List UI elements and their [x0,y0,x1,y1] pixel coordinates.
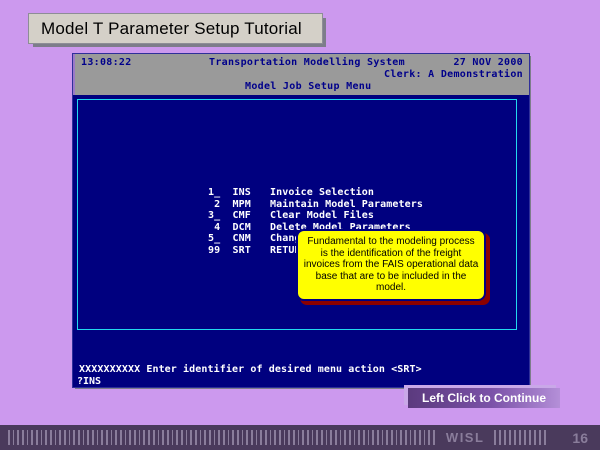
footer-tick [186,430,188,445]
command-input-value[interactable]: ?INS [77,376,101,387]
terminal-window: 13:08:22 Transportation Modelling System… [72,53,530,388]
footer-tick [172,430,174,445]
slide-footer: WISL 16 [0,425,600,450]
footer-tick [195,430,197,445]
callout-box: Fundamental to the modeling process is t… [296,229,486,301]
footer-tick [36,430,38,445]
footer-tick [326,430,328,445]
footer-tick [509,430,511,445]
footer-tick [55,430,57,445]
footer-tick [92,430,94,445]
footer-tick [270,430,272,445]
menu-option-code: 2 MPM [208,199,270,211]
menu-option-code: 99 SRT [208,245,270,257]
footer-tick [433,430,435,445]
footer-tick [17,430,19,445]
footer-tick [372,430,374,445]
footer-tick [524,430,526,445]
footer-tick [298,430,300,445]
footer-tick [499,430,501,445]
footer-tick [73,430,75,445]
footer-tick [307,430,309,445]
footer-tick [134,430,136,445]
footer-tick [13,430,15,445]
menu-option-row[interactable]: 2 MPMMaintain Model Parameters [208,199,448,211]
footer-tick [237,430,239,445]
footer-tick [125,430,127,445]
footer-tick [242,430,244,445]
footer-tick [340,430,342,445]
footer-tick [115,430,117,445]
page-title: Model T Parameter Setup Tutorial [29,19,302,39]
menu-option-row[interactable]: 1_ INSInvoice Selection [208,187,448,199]
footer-tick [101,430,103,445]
footer-tick [148,430,150,445]
footer-tick [209,430,211,445]
footer-tick [251,430,253,445]
header-time: 13:08:22 [81,57,132,68]
menu-option-label: Maintain Model Parameters [270,199,423,210]
footer-tick [358,430,360,445]
header-date: 27 NOV 2000 [453,57,523,68]
footer-page-number: 16 [572,430,588,446]
footer-tick [256,430,258,445]
footer-tick [410,430,412,445]
footer-tick [139,430,141,445]
footer-tick [400,430,402,445]
menu-option-code: 3_ CMF [208,210,270,222]
footer-tick [391,430,393,445]
footer-tick [382,430,384,445]
footer-tick [223,430,225,445]
footer-tick [335,430,337,445]
footer-tick [377,430,379,445]
footer-tick [330,430,332,445]
terminal-header-bar: 13:08:22 Transportation Modelling System… [73,54,529,95]
footer-tick [363,430,365,445]
footer-tick [514,430,516,445]
footer-tick [204,430,206,445]
footer-tick-marks-right [494,430,564,445]
footer-tick [111,430,113,445]
footer-tick [78,430,80,445]
header-clerk: Clerk: A Demonstration [384,69,523,80]
menu-option-code: 4 DCM [208,222,270,234]
footer-tick [405,430,407,445]
footer-tick [153,430,155,445]
footer-tick [544,430,546,445]
footer-tick [41,430,43,445]
footer-tick [200,430,202,445]
footer-tick [539,430,541,445]
callout-text: Fundamental to the modeling process is t… [298,236,484,294]
footer-tick [414,430,416,445]
footer-tick [316,430,318,445]
footer-tick [31,430,33,445]
footer-tick [83,430,85,445]
footer-tick-marks-left [8,430,438,445]
header-system-title: Transportation Modelling System [209,57,405,68]
footer-tick [228,430,230,445]
command-prompt-text: XXXXXXXXXX Enter identifier of desired m… [79,364,422,375]
footer-tick [386,430,388,445]
footer-tick [288,430,290,445]
footer-tick [265,430,267,445]
footer-tick [45,430,47,445]
footer-tick [167,430,169,445]
menu-option-label: Clear Model Files [270,210,374,221]
footer-tick [190,430,192,445]
footer-tick [214,430,216,445]
menu-option-label: Invoice Selection [270,187,374,198]
footer-tick [424,430,426,445]
continue-button-label: Left Click to Continue [422,391,546,405]
footer-tick [534,430,536,445]
footer-tick [162,430,164,445]
slide-title-plaque: Model T Parameter Setup Tutorial [28,13,323,44]
footer-tick [158,430,160,445]
footer-tick [321,430,323,445]
footer-tick [428,430,430,445]
footer-tick [97,430,99,445]
footer-tick [176,430,178,445]
footer-tick [120,430,122,445]
menu-option-row[interactable]: 3_ CMFClear Model Files [208,210,448,222]
footer-tick [396,430,398,445]
footer-tick [181,430,183,445]
footer-tick [143,430,145,445]
footer-tick [293,430,295,445]
header-menu-title: Model Job Setup Menu [245,81,371,92]
footer-tick [50,430,52,445]
footer-tick [279,430,281,445]
footer-brand: WISL [446,430,485,445]
footer-tick [232,430,234,445]
footer-tick [419,430,421,445]
footer-tick [312,430,314,445]
footer-tick [246,430,248,445]
footer-tick [64,430,66,445]
footer-tick [27,430,29,445]
footer-tick [354,430,356,445]
menu-option-code: 5_ CNM [208,233,270,245]
footer-tick [260,430,262,445]
footer-tick [519,430,521,445]
footer-tick [87,430,89,445]
footer-tick [529,430,531,445]
footer-tick [69,430,71,445]
menu-option-code: 1_ INS [208,187,270,199]
footer-tick [218,430,220,445]
footer-tick [302,430,304,445]
footer-tick [59,430,61,445]
footer-tick [8,430,10,445]
footer-tick [368,430,370,445]
footer-tick [494,430,496,445]
footer-tick [106,430,108,445]
footer-tick [129,430,131,445]
footer-tick [284,430,286,445]
left-click-to-continue-button[interactable]: Left Click to Continue [408,388,560,408]
footer-tick [274,430,276,445]
footer-tick [22,430,24,445]
footer-tick [344,430,346,445]
footer-tick [504,430,506,445]
footer-tick [349,430,351,445]
